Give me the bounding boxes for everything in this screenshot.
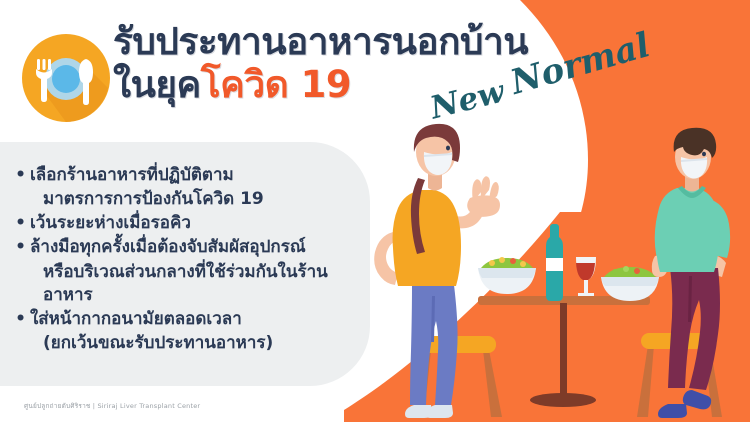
salad-bit <box>612 269 618 275</box>
bullet-dot-icon: • <box>14 308 27 331</box>
list-item: • เว้นระยะห่างเมื่อรอคิว <box>14 212 380 235</box>
bowl-rim <box>601 277 659 286</box>
title-highlight: โควิด 19 <box>201 63 351 106</box>
title-prefix: ในยุค <box>113 63 201 106</box>
man-with-mask <box>652 128 730 418</box>
logo <box>14 26 118 130</box>
bullet-text-cont: หรือบริเวณส่วนกลางที่ใช้ร่วมกันในร้าน <box>14 261 380 284</box>
footer-credit: ศูนย์ปลูกถ่ายตับศิริราช | Siriraj Liver … <box>24 401 200 411</box>
man-shoe-left <box>658 404 687 418</box>
salad-bit <box>510 258 516 264</box>
bowl-rim <box>478 268 536 278</box>
table-base <box>530 393 596 407</box>
salad-bit <box>520 261 526 267</box>
bullet-text: ล้างมือทุกครั้งเมื่อต้องจับสัมผัสอุปกรณ์ <box>27 236 380 259</box>
bullet-list: • เลือกร้านอาหารที่ปฏิบัติตาม มาตรการการ… <box>14 164 380 356</box>
woman-waving-hand <box>467 176 500 217</box>
list-item: • เลือกร้านอาหารที่ปฏิบัติตาม <box>14 164 380 187</box>
man-eye <box>702 152 706 157</box>
dining-table <box>478 296 650 407</box>
salad-bowl-right <box>601 266 659 301</box>
woman-eye <box>446 146 450 151</box>
bottle-label <box>546 258 563 271</box>
list-item: • ใส่หน้ากากอนามัยตลอดเวลา <box>14 308 380 331</box>
salad-bit <box>499 257 505 263</box>
bullet-dot-icon: • <box>14 164 27 187</box>
bullet-dot-icon: • <box>14 212 27 235</box>
salad-bowl-left <box>478 257 536 294</box>
salad-bit <box>634 268 640 274</box>
title-line-1: รับประทานอาหารนอกบ้าน <box>113 23 528 60</box>
bullet-text-cont: อาหาร <box>14 284 380 307</box>
plate-inner-icon <box>52 65 80 93</box>
man-shirt <box>655 188 719 272</box>
woman-shirt <box>393 190 461 286</box>
bullet-text: เว้นระยะห่างเมื่อรอคิว <box>27 212 380 235</box>
stool-leg-right <box>483 350 502 417</box>
stool-leg-left <box>637 345 654 417</box>
salad-bit <box>644 271 650 277</box>
bullet-text-cont: มาตรการการป้องกันโควิด 19 <box>14 188 380 211</box>
bullet-text: ใส่หน้ากากอนามัยตลอดเวลา <box>27 308 380 331</box>
bullet-text: เลือกร้านอาหารที่ปฏิบัติตาม <box>27 164 380 187</box>
salad-bit <box>489 260 495 266</box>
list-item: • ล้างมือทุกครั้งเมื่อต้องจับสัมผัสอุปกร… <box>14 236 380 259</box>
bullet-dot-icon: • <box>14 236 27 259</box>
table-leg <box>560 303 567 398</box>
bullet-text-cont: (ยกเว้นขณะรับประทานอาหาร) <box>14 332 380 355</box>
wine-liquid <box>576 263 595 280</box>
restaurant-plate-icon <box>14 26 118 130</box>
salad-bit <box>623 266 629 272</box>
man-shoe-right <box>683 390 711 409</box>
infographic-poster: รับประทานอาหารนอกบ้าน ในยุคโควิด 19 New … <box>0 0 750 422</box>
wine-bottle <box>546 224 563 301</box>
wine-glass <box>575 257 596 296</box>
